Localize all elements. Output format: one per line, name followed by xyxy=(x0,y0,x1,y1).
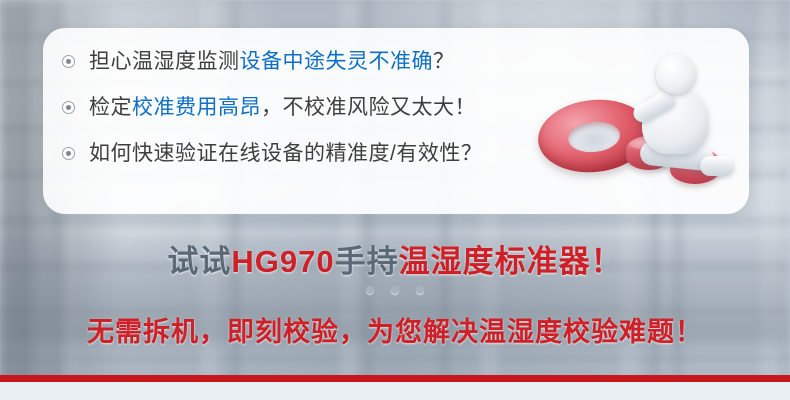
question-text: 担心温湿度监测设备中途失灵不准确？ xyxy=(89,48,455,76)
question-text-pre: 检定 xyxy=(89,96,132,119)
headline: 试试HG970手持温湿度标准器！ xyxy=(0,236,790,281)
bottom-grey-bar xyxy=(0,382,790,400)
headline-product-code: HG970 xyxy=(231,244,334,279)
bullet-icon xyxy=(62,101,75,114)
promo-banner: 担心温湿度监测设备中途失灵不准确？ 检定校准费用高昂，不校准风险又太大！ 如何快… xyxy=(0,0,790,400)
headline-part-3: 手持 xyxy=(335,244,399,279)
headline-part-1: 试试 xyxy=(167,244,231,279)
separator-dot xyxy=(391,286,399,294)
question-text-post: ？ xyxy=(433,50,455,73)
headline-part-5: ！ xyxy=(591,244,623,279)
bullet-icon xyxy=(62,55,75,68)
dot-separator xyxy=(0,286,790,294)
separator-dot xyxy=(416,286,424,294)
question-text-pre: 如何快速验证在线设备的精准度/有效性？ xyxy=(89,142,482,165)
question-text-highlight: 校准费用高昂 xyxy=(132,96,261,119)
mascot-foot xyxy=(700,156,734,176)
bottom-red-bar xyxy=(0,375,790,382)
separator-dot xyxy=(366,286,374,294)
bullet-icon xyxy=(62,147,75,160)
subline: 无需拆机，即刻校验，为您解决温湿度校验难题！ xyxy=(0,310,790,349)
mascot-figure xyxy=(616,52,736,202)
question-text-highlight: 设备中途失灵不准确 xyxy=(240,50,434,73)
question-text: 如何快速验证在线设备的精准度/有效性？ xyxy=(89,140,482,168)
illustration-3d-mascot xyxy=(530,52,745,202)
question-text-post: ，不校准风险又太大！ xyxy=(261,96,476,119)
question-text: 检定校准费用高昂，不校准风险又太大！ xyxy=(89,94,476,122)
mascot-head xyxy=(656,54,696,94)
question-text-pre: 担心温湿度监测 xyxy=(89,50,240,73)
headline-product-name: 温湿度标准器 xyxy=(399,244,591,279)
